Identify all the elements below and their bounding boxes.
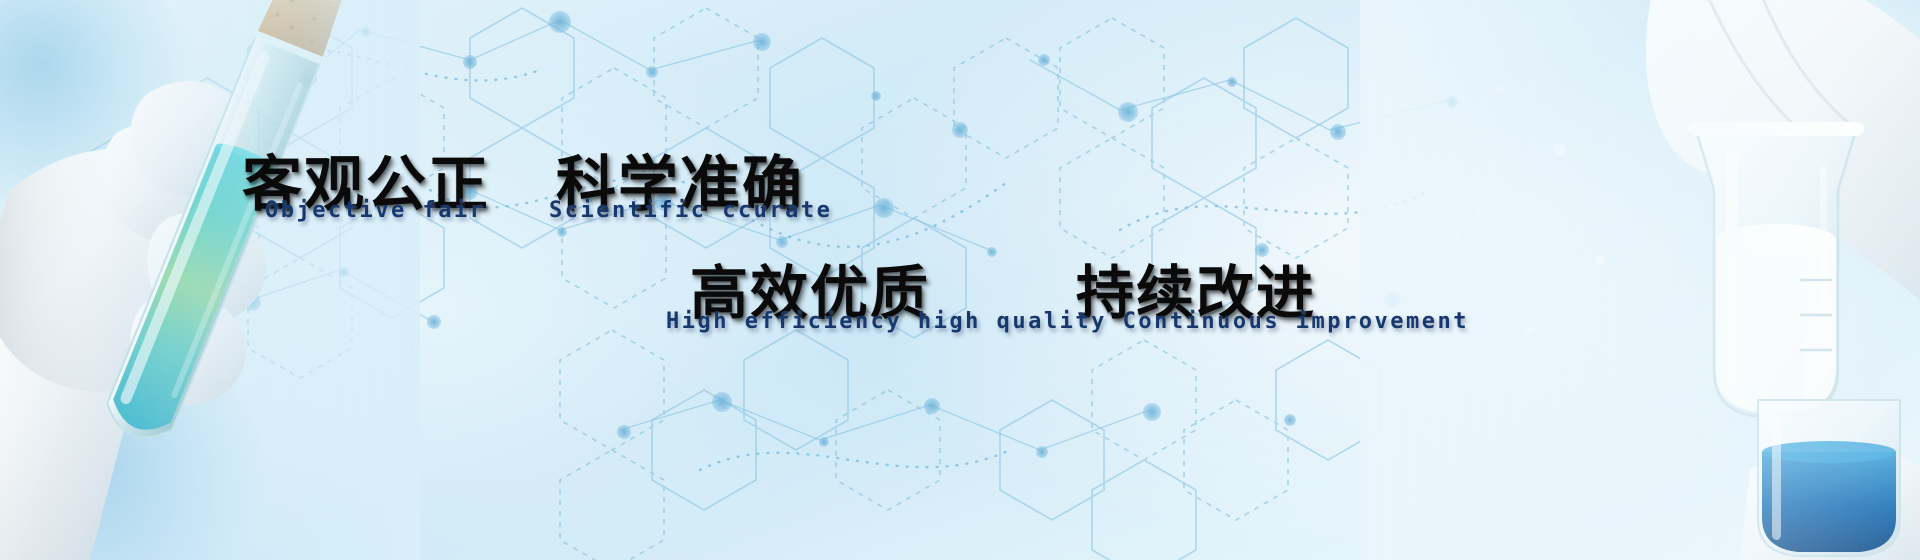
slogan-subtitle-efficiency-improvement: High efficiency high quality Continuous … [666, 309, 1469, 334]
slogan-text-block: 客观公正 科学准确 Objective fair Scientific ccur… [0, 0, 1920, 560]
slogan-subtitle-objective: Objective fair [265, 198, 485, 223]
lab-hero-banner: 客观公正 科学准确 Objective fair Scientific ccur… [0, 0, 1920, 560]
slogan-subtitle-scientific: Scientific ccurate [549, 198, 832, 223]
